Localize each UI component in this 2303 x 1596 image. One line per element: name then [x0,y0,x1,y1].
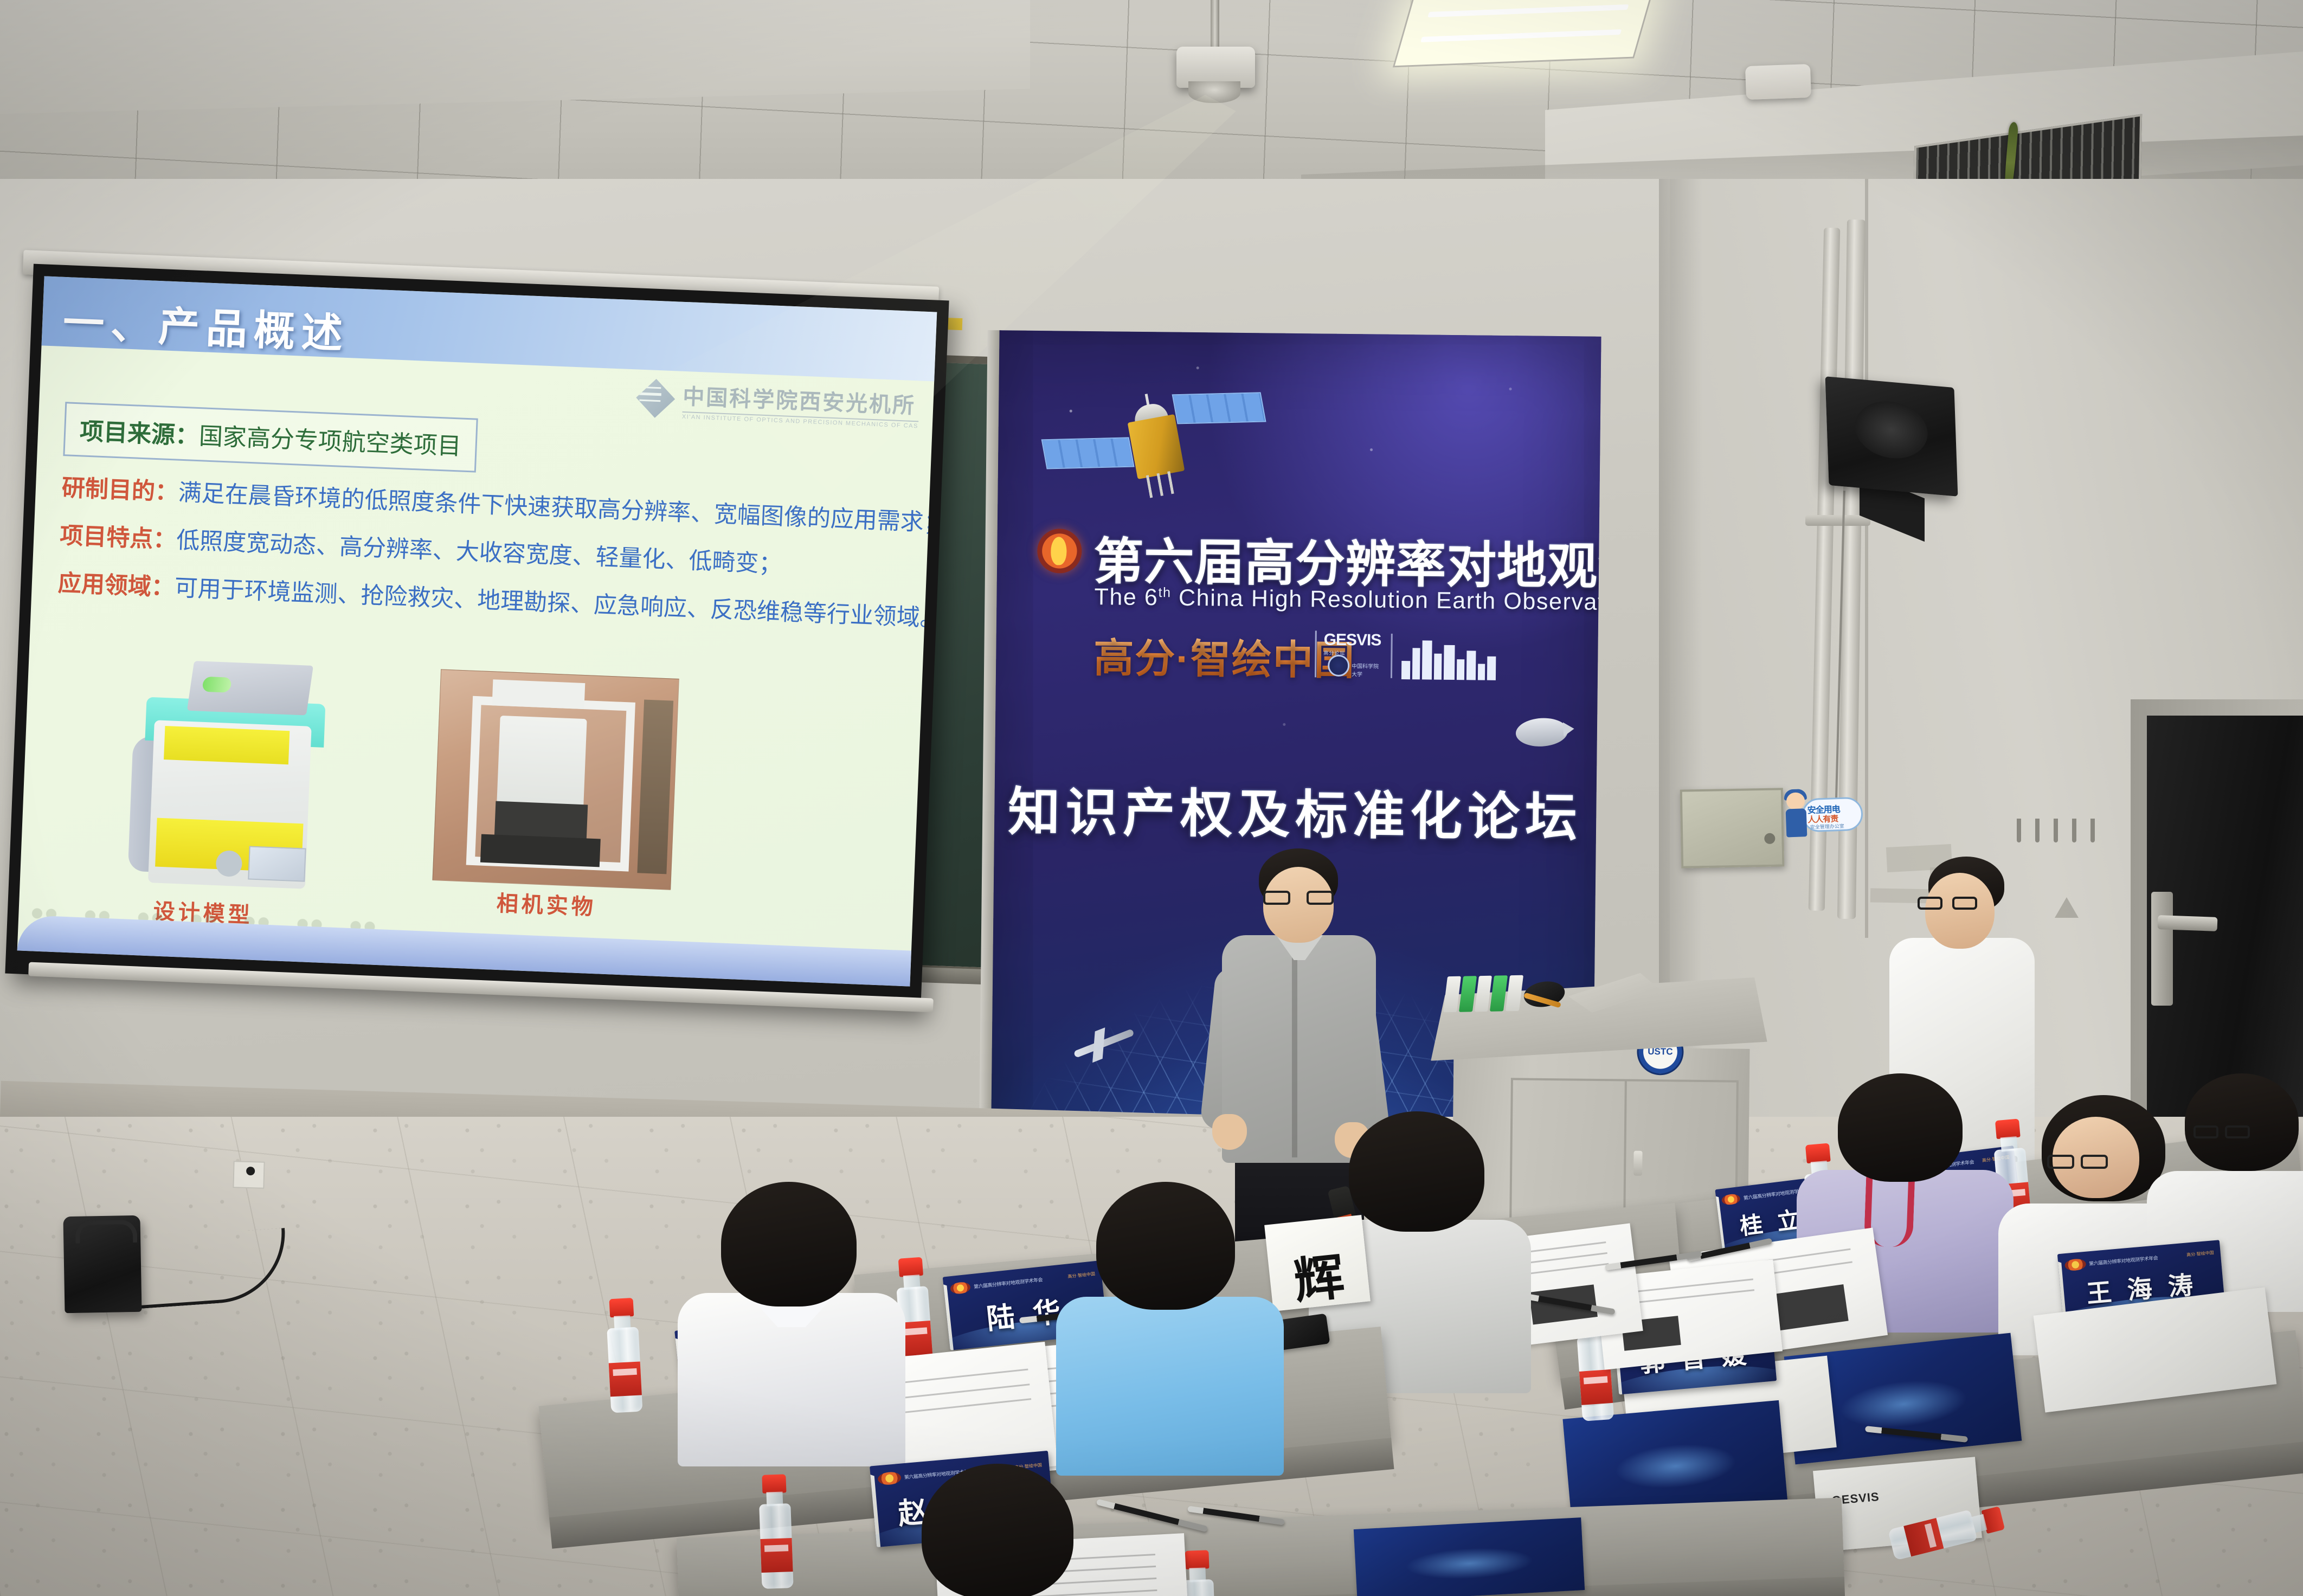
attendee-hair [1838,1073,1963,1182]
banner-org-seal-icon [1328,655,1349,677]
bottle-label [760,1538,793,1573]
lectern-door-handle[interactable] [1633,1151,1642,1176]
photo-top-plate [492,679,586,709]
presenter-hand-left [1212,1114,1247,1150]
light-tube [1420,29,1622,42]
bottle-label [609,1361,642,1397]
slide-row-1-label: 研制目的： [61,475,179,506]
institute-logo-mark-icon [635,378,676,419]
photo-dark-module [494,801,588,840]
slide-body: 项目来源：国家高分专项航空类项目 研制目的：满足在晨昏环境的低照度条件下快速获取… [57,402,905,633]
slide-row-3-value: 可用于环境监测、抢险救灾、地理勘探、应急响应、反恐维稳等行业领域。 [174,575,937,632]
electrical-panel-box[interactable] [1680,788,1785,868]
door-lock-plate [2151,892,2173,1006]
banner-org-mark: GESVIS 高分论坛 中国科学院大学 [1323,631,1384,678]
wall-power-outlet[interactable] [233,1161,265,1189]
conference-logo-icon [1037,529,1082,574]
pipe-clamp [1805,515,1870,526]
attendee-glasses-icon [2047,1155,2112,1169]
presenter-glasses-icon [1263,891,1335,905]
bottle-cap [898,1257,923,1277]
seated-attendee-foreground [889,1464,1117,1596]
conference-proceedings[interactable] [1354,1517,1585,1596]
name-card-header-right: 高分·智绘中国 [2186,1250,2214,1258]
bottle-label [1903,1518,1944,1556]
photo-base-plate [480,834,601,867]
water-bottle[interactable] [604,1298,644,1413]
institute-logo: 中国科学院西安光机所 XI'AN INSTITUTE OF OPTICS AND… [635,377,920,429]
sticker-worker-head-icon [1786,792,1805,810]
satellite-solar-panel-left [1041,437,1135,469]
banner-title-en-sup: th [1158,585,1171,600]
slide-row-2-label: 项目特点： [59,523,177,554]
slide-title: 一、产品概述 [62,289,350,360]
sticker-line-3: 安全管理办公室 [1810,822,1844,831]
light-tube [1427,4,1629,17]
marker-pen-set[interactable] [1443,975,1523,1013]
handwritten-name-card: 辉 [1264,1215,1371,1311]
seated-attendee-blue-shirt [1063,1182,1274,1464]
slide-row-0-value: 国家高分专项航空类项目 [198,423,462,460]
satellite-solar-panel-right [1172,392,1266,424]
name-card-logo-icon [950,1281,972,1295]
banner-org-mark-sub: 高分论坛 [1323,649,1383,657]
figure-design-model [123,654,360,897]
model-access-panel [248,846,306,881]
bottle-cap [762,1474,786,1494]
slide-row-0-label: 项目来源： [79,418,200,449]
sticker-worker-body-icon [1786,808,1807,837]
attendee-shirt [1056,1297,1284,1476]
ceiling-light-panel [1393,0,1654,67]
slide-figures: 设计模型 相机实物 [19,650,922,941]
bottle-cap [609,1298,634,1317]
wall-speaker-icon [1825,376,1958,497]
model-top-module [187,661,313,715]
slide-row-source: 项目来源：国家高分专项航空类项目 [63,402,478,472]
handwritten-name-text: 辉 [1266,1234,1371,1311]
figure-caption-camera-photo: 相机实物 [496,886,597,921]
equipment-case[interactable] [63,1215,141,1313]
presenter-shirt-placket [1292,957,1297,1157]
standing-attendee-head [1925,873,1995,949]
wall-seam [1865,179,1868,938]
warning-triangle-icon [2055,897,2079,918]
wall-hook-strip [2017,819,2103,849]
model-led [202,677,232,693]
attendee-hair [1349,1111,1484,1232]
name-card-header-text: 第六届高分辨率对地观测学术年会 [973,1276,1043,1290]
attendee-hair [721,1182,857,1307]
water-bottle[interactable] [757,1474,794,1589]
conference-room-scene: 安全用电 人人有责 安全管理办公室 一、产品概述 中国科学院西安光机所 XI'A… [0,0,2303,1596]
standing-attendee-glasses-icon [1918,897,1977,910]
presenter-head [1263,867,1334,943]
attendee-hair [1096,1182,1235,1310]
slide-row-1-value: 满足在晨昏环境的低照度条件下快速获取高分辨率、宽幅图像的应用需求； [178,480,937,537]
smoke-detector-icon [1745,64,1811,100]
slide-row-2-value: 低照度宽动态、高分辨率、大收容宽度、轻量化、低畸变； [176,527,782,578]
slide-row-3-label: 应用领域： [57,570,175,601]
projector-lens [1188,81,1240,103]
figure-camera-photo [432,669,679,890]
projector-mount-rod [1211,0,1219,52]
model-yellow-band-top [164,726,290,764]
safety-notice-sticker: 安全用电 人人有责 安全管理办公室 [1783,784,1866,844]
presentation-slide: 一、产品概述 中国科学院西安光机所 XI'AN INSTITUTE OF OPT… [17,276,937,986]
seated-attendee-front-left [689,1182,895,1453]
banner-title-en-pre: The 6 [1094,584,1158,610]
name-card-logo-icon [1721,1193,1741,1205]
door-handle[interactable] [2158,915,2218,931]
name-card-logo-icon [2064,1258,2086,1271]
attendee-hair [922,1464,1073,1596]
bottle-cap [1185,1550,1209,1569]
attendee-hair [2185,1073,2299,1171]
banner-org-seal-text: 中国科学院大学 [1352,661,1383,678]
name-card-header-text: 第六届高分辨率对地观测学术年会 [2089,1254,2158,1267]
attendee-glasses-icon [2193,1125,2253,1138]
bottle-label [1579,1369,1613,1405]
city-skyline-icon [1401,636,1500,680]
banner-org-mark-text: GESVIS [1323,631,1383,650]
photo-background-strip [637,699,673,874]
